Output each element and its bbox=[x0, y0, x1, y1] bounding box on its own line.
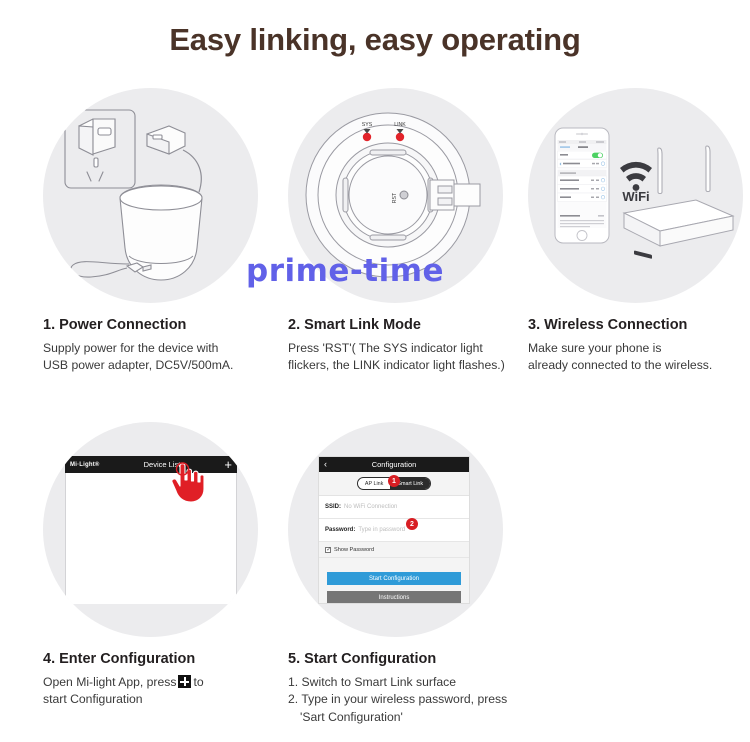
show-password-checkbox[interactable] bbox=[325, 547, 331, 553]
step-1-desc-line-1: Supply power for the device with bbox=[43, 340, 288, 357]
iphone-outline bbox=[555, 128, 609, 243]
ssid-label: SSID: bbox=[325, 504, 341, 510]
password-field[interactable]: Password: Type in password bbox=[319, 519, 469, 542]
step-4-desc-after: to bbox=[193, 675, 203, 689]
step-3-desc-line-1: Make sure your phone is bbox=[528, 340, 750, 357]
password-placeholder: Type in password bbox=[358, 527, 405, 533]
infographic-page: Easy linking, easy operating bbox=[0, 0, 750, 742]
list-edge-left bbox=[65, 473, 66, 604]
milight-logo: Mi·Light® bbox=[70, 462, 100, 468]
configuration-title: Configuration bbox=[372, 460, 417, 469]
step-5-desc-item-3: 'Sart Configuration' bbox=[288, 709, 553, 726]
step-1-power-connection: 1. Power Connection Supply power for the… bbox=[43, 88, 288, 375]
step-5-title: 5. Start Configuration bbox=[288, 651, 553, 667]
step-5-illustration: ‹ Configuration AP Link Smart Link SSID:… bbox=[288, 422, 503, 637]
step-4-desc-before: Open Mi-light App, press bbox=[43, 675, 176, 689]
password-label: Password: bbox=[325, 527, 355, 533]
badge-step-2: 2 bbox=[406, 518, 418, 530]
step-5-description: 1. Switch to Smart Link surface 2. Type … bbox=[288, 674, 553, 726]
plus-square-icon bbox=[178, 675, 191, 688]
step-4-description: Open Mi-light App, pressto start Configu… bbox=[43, 674, 288, 709]
chevron-left-icon[interactable]: ‹ bbox=[324, 460, 327, 469]
round-controller-bottom-view-icon: SYS LINK RST bbox=[288, 88, 503, 303]
step-3-wireless-connection: WiFi 3. Wireless Connection Make sure yo… bbox=[528, 88, 750, 375]
configuration-header-bar: ‹ Configuration bbox=[319, 457, 469, 472]
ssid-value: No WiFi Connection bbox=[344, 504, 397, 510]
step-5-desc-item-2: 2. Type in your wireless password, press bbox=[288, 691, 553, 708]
step-2-smart-link-mode: SYS LINK RST 2. Smart Link Mode Press 'R… bbox=[288, 88, 538, 375]
configuration-buttons: Start Configuration Instructions bbox=[319, 558, 469, 604]
show-password-label: Show Password bbox=[334, 547, 374, 553]
badge-step-1: 1 bbox=[388, 475, 400, 487]
device-list-body bbox=[65, 473, 237, 604]
step-4-enter-configuration: Mi·Light® Device List + 4. Enter Configu… bbox=[43, 422, 288, 709]
step-4-desc-line-1: Open Mi-light App, pressto bbox=[43, 674, 288, 691]
start-configuration-button[interactable]: Start Configuration bbox=[327, 572, 461, 585]
step-2-title: 2. Smart Link Mode bbox=[288, 317, 538, 333]
rst-label: RST bbox=[392, 192, 398, 203]
step-5-desc-item-1: 1. Switch to Smart Link surface bbox=[288, 674, 553, 691]
step-1-illustration bbox=[43, 88, 258, 303]
sys-label: SYS bbox=[362, 122, 373, 128]
step-3-desc-line-2: already connected to the wireless. bbox=[528, 357, 750, 374]
step-1-desc-line-2: USB power adapter, DC5V/500mA. bbox=[43, 357, 288, 374]
step-1-title: 1. Power Connection bbox=[43, 317, 288, 333]
link-label: LINK bbox=[394, 122, 406, 128]
ssid-field[interactable]: SSID: No WiFi Connection bbox=[319, 496, 469, 519]
step-3-title: 3. Wireless Connection bbox=[528, 317, 750, 333]
milight-app-device-list-screen: Mi·Light® Device List + bbox=[65, 456, 237, 604]
wifi-symbol-icon bbox=[620, 162, 652, 191]
step-2-description: Press 'RST'( The SYS indicator light fli… bbox=[288, 340, 538, 375]
list-edge-right bbox=[236, 473, 237, 604]
show-password-row[interactable]: Show Password bbox=[319, 542, 469, 558]
wall-socket-usb-adapter-lamp-icon bbox=[43, 88, 258, 303]
step-4-illustration: Mi·Light® Device List + bbox=[43, 422, 258, 637]
page-title: Easy linking, easy operating bbox=[0, 22, 750, 58]
step-4-title: 4. Enter Configuration bbox=[43, 651, 288, 667]
step-3-illustration: WiFi bbox=[528, 88, 743, 303]
wifi-label: WiFi bbox=[622, 189, 649, 204]
step-2-illustration: SYS LINK RST bbox=[288, 88, 503, 303]
pointing-hand-cursor-icon bbox=[169, 460, 209, 504]
step-4-desc-line-2: start Configuration bbox=[43, 691, 288, 708]
step-1-description: Supply power for the device with USB pow… bbox=[43, 340, 288, 375]
step-3-description: Make sure your phone is already connecte… bbox=[528, 340, 750, 375]
app-header-bar: Mi·Light® Device List + bbox=[65, 456, 237, 473]
instructions-button[interactable]: Instructions bbox=[327, 591, 461, 604]
step-5-start-configuration: ‹ Configuration AP Link Smart Link SSID:… bbox=[288, 422, 553, 726]
add-device-button[interactable]: + bbox=[224, 460, 232, 470]
tab-ap-link[interactable]: AP Link bbox=[358, 478, 390, 489]
step-2-desc-line-1: Press 'RST'( The SYS indicator light bbox=[288, 340, 538, 357]
step-2-desc-line-2: flickers, the LINK indicator light flash… bbox=[288, 357, 538, 374]
phone-wifi-router-icon: WiFi bbox=[528, 88, 743, 303]
